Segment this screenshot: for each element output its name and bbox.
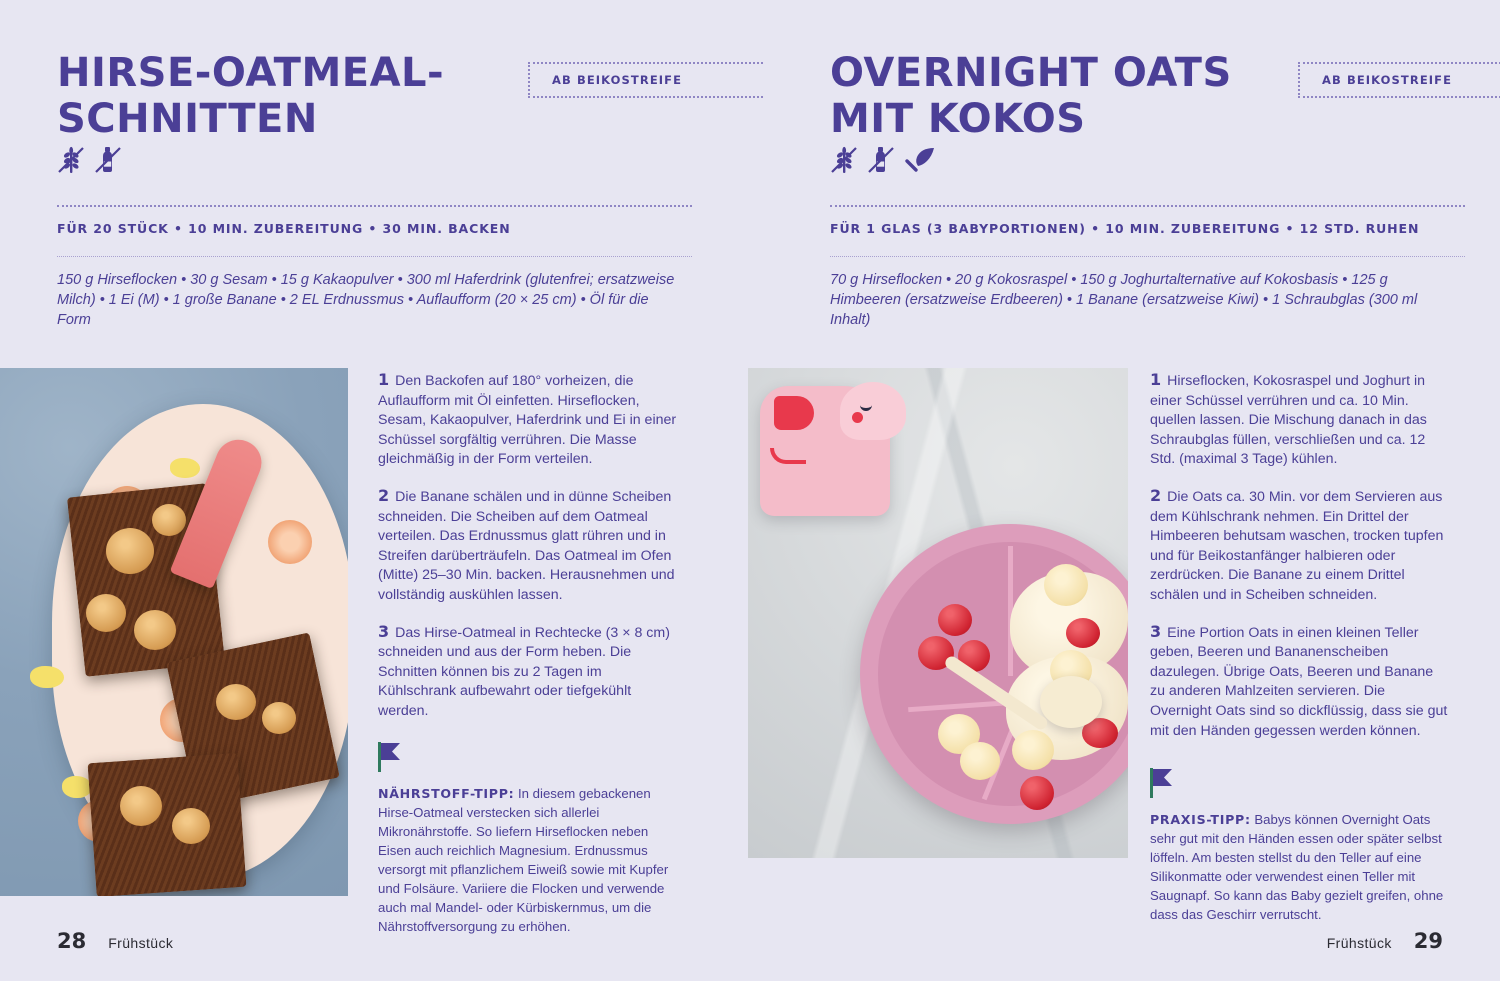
step-text: Das Hirse-Oatmeal in Rechtecke (3 × 8 cm…	[378, 625, 670, 719]
tip-box: PRAXIS-TIPP: Babys können Overnight Oats…	[1150, 768, 1450, 924]
age-badge-label: AB BEIKOSTREIFE	[1322, 73, 1452, 87]
page-number: 29	[1414, 929, 1443, 953]
step-number: 3	[378, 622, 389, 641]
vegan-leaf-icon	[904, 145, 936, 175]
recipe-spread: HIRSE-OATMEAL-SCHNITTEN AB BEIKOSTREIFE	[0, 0, 1500, 981]
elephant-toy	[760, 386, 890, 516]
step-item: 1Den Backofen auf 180° vorheizen, die Au…	[378, 370, 678, 470]
age-badge: AB BEIKOSTREIFE	[1298, 62, 1500, 98]
page-title: HIRSE-OATMEAL-SCHNITTEN	[57, 50, 487, 142]
step-item: 3Eine Portion Oats in einen kleinen Tell…	[1150, 622, 1450, 742]
tip-text: PRAXIS-TIPP: Babys können Overnight Oats…	[1150, 810, 1450, 924]
recipe-meta: FÜR 20 STÜCK • 10 MIN. ZUBEREITUNG • 30 …	[57, 221, 511, 236]
step-number: 1	[378, 370, 389, 389]
wheat-free-icon	[57, 145, 85, 175]
step-number: 2	[378, 486, 389, 505]
step-number: 1	[1150, 370, 1161, 389]
milk-free-icon	[94, 145, 122, 175]
recipe-photo	[0, 368, 348, 896]
ingredients-list: 70 g Hirseflocken • 20 g Kokosraspel • 1…	[830, 270, 1455, 330]
flag-icon	[1150, 768, 1176, 798]
step-item: 2Die Banane schälen und in dünne Scheibe…	[378, 486, 678, 606]
instruction-steps: 1Hirseflocken, Kokosraspel und Joghurt i…	[1150, 370, 1450, 741]
meta-rule	[830, 205, 1465, 207]
step-item: 2Die Oats ca. 30 Min. vor dem Servieren …	[1150, 486, 1450, 606]
flag-icon	[378, 742, 404, 772]
page-number: 28	[57, 929, 86, 953]
page-footer: 28 Frühstück	[57, 929, 173, 953]
tip-body-text: In diesem gebackenen Hirse-Oatmeal verst…	[378, 786, 668, 934]
diet-icon-row	[57, 145, 122, 175]
meta-rule	[57, 205, 692, 207]
step-number: 3	[1150, 622, 1161, 641]
instruction-steps: 1Den Backofen auf 180° vorheizen, die Au…	[378, 370, 678, 722]
age-badge-label: AB BEIKOSTREIFE	[552, 73, 682, 87]
tip-body-text: Babys können Overnight Oats sehr gut mit…	[1150, 812, 1443, 922]
step-number: 2	[1150, 486, 1161, 505]
tip-text: NÄHRSTOFF-TIPP: In diesem gebackenen Hir…	[378, 784, 678, 936]
ingredients-list: 150 g Hirseflocken • 30 g Sesam • 15 g K…	[57, 270, 677, 330]
step-text: Hirseflocken, Kokosraspel und Joghurt in…	[1150, 373, 1427, 467]
ingredients-rule	[57, 256, 692, 257]
tip-label: NÄHRSTOFF-TIPP:	[378, 786, 514, 801]
section-label: Frühstück	[1327, 935, 1392, 951]
step-text: Eine Portion Oats in einen kleinen Telle…	[1150, 625, 1447, 739]
spoon	[1040, 676, 1102, 728]
step-item: 1Hirseflocken, Kokosraspel und Joghurt i…	[1150, 370, 1450, 470]
ingredients-rule	[830, 256, 1465, 257]
milk-free-icon	[867, 145, 895, 175]
page-footer: Frühstück 29	[1327, 929, 1443, 953]
step-item: 3Das Hirse-Oatmeal in Rechtecke (3 × 8 c…	[378, 622, 678, 722]
step-text: Die Banane schälen und in dünne Scheiben…	[378, 489, 675, 603]
step-text: Die Oats ca. 30 Min. vor dem Servieren a…	[1150, 489, 1443, 603]
age-badge: AB BEIKOSTREIFE	[528, 62, 763, 98]
step-text: Den Backofen auf 180° vorheizen, die Auf…	[378, 373, 676, 467]
wheat-free-icon	[830, 145, 858, 175]
tip-label: PRAXIS-TIPP:	[1150, 812, 1251, 827]
tip-box: NÄHRSTOFF-TIPP: In diesem gebackenen Hir…	[378, 742, 678, 936]
section-label: Frühstück	[108, 935, 173, 951]
recipe-photo	[748, 368, 1128, 858]
left-recipe-page: HIRSE-OATMEAL-SCHNITTEN AB BEIKOSTREIFE	[0, 0, 750, 981]
page-title: OVERNIGHT OATSMIT KOKOS	[830, 50, 1260, 142]
diet-icon-row	[830, 145, 936, 175]
recipe-meta: FÜR 1 GLAS (3 BABYPORTIONEN) • 10 MIN. Z…	[830, 221, 1419, 236]
